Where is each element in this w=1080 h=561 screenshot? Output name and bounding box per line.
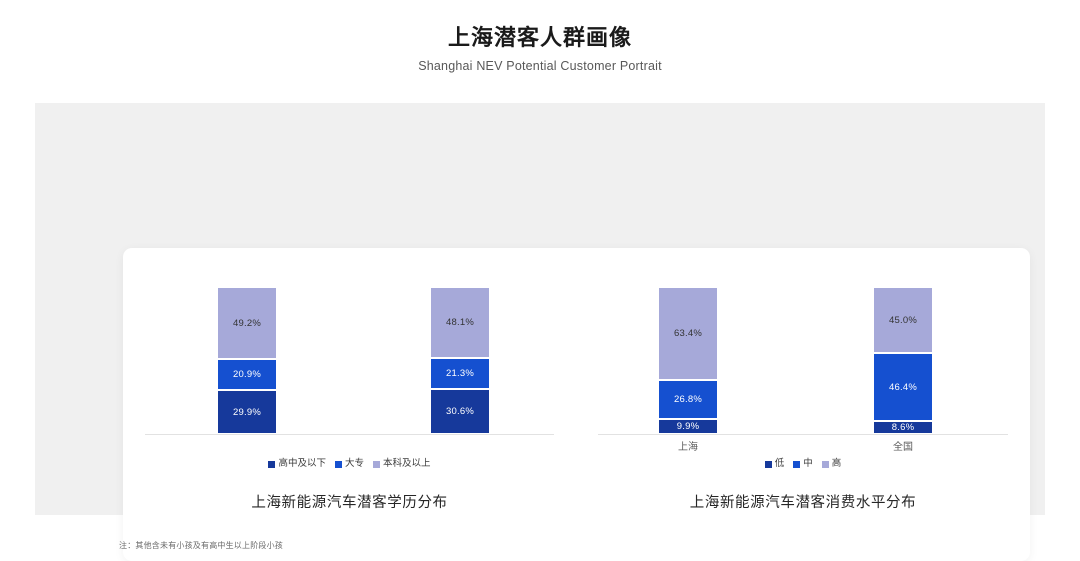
- legend-label: 低: [775, 459, 785, 469]
- bar-segment-low[interactable]: 29.9%: [217, 390, 277, 434]
- content-card: 29.9% 20.9% 49.2% 30.6% 21.3% 48.1% 高中及以…: [123, 248, 1030, 561]
- slide-panel: 29.9% 20.9% 49.2% 30.6% 21.3% 48.1% 高中及以…: [35, 103, 1045, 515]
- bar-consumption-1[interactable]: 8.6% 46.4% 45.0%: [873, 287, 933, 434]
- category-axis-labels: 上海 全国: [576, 438, 1030, 454]
- bar-segment-mid[interactable]: 46.4%: [873, 353, 933, 421]
- bar-consumption-0[interactable]: 9.9% 26.8% 63.4%: [658, 287, 718, 434]
- legend-swatch-icon: [335, 461, 342, 468]
- plot-area-consumption: 9.9% 26.8% 63.4% 8.6% 46.4% 45.0%: [576, 288, 1030, 435]
- legend-education: 高中及以下 大专 本科及以上: [123, 459, 576, 469]
- legend-label: 本科及以上: [383, 459, 431, 469]
- legend-item[interactable]: 高: [822, 459, 842, 469]
- bar-segment-high[interactable]: 45.0%: [873, 287, 933, 353]
- bar-segment-high[interactable]: 48.1%: [430, 287, 490, 358]
- legend-consumption: 低 中 高: [576, 459, 1030, 469]
- page-subtitle: Shanghai NEV Potential Customer Portrait: [0, 58, 1080, 74]
- bar-education-0[interactable]: 29.9% 20.9% 49.2%: [217, 287, 277, 434]
- legend-item[interactable]: 本科及以上: [373, 459, 431, 469]
- page-header: 上海潜客人群画像 Shanghai NEV Potential Customer…: [0, 24, 1080, 74]
- bar-segment-low[interactable]: 9.9%: [658, 419, 718, 434]
- legend-item[interactable]: 大专: [335, 459, 364, 469]
- chart-footnote: 注：其他含未有小孩及有高中生以上阶段小孩: [119, 540, 283, 551]
- plot-area-education: 29.9% 20.9% 49.2% 30.6% 21.3% 48.1%: [123, 288, 576, 435]
- bar-segment-high[interactable]: 63.4%: [658, 287, 718, 380]
- chart-consumption: 9.9% 26.8% 63.4% 8.6% 46.4% 45.0% 上海 全国: [576, 248, 1030, 561]
- charts-row: 29.9% 20.9% 49.2% 30.6% 21.3% 48.1% 高中及以…: [123, 248, 1030, 561]
- legend-swatch-icon: [373, 461, 380, 468]
- legend-swatch-icon: [793, 461, 800, 468]
- bar-segment-high[interactable]: 49.2%: [217, 287, 277, 359]
- axis-baseline: [145, 434, 554, 435]
- category-label-nationwide: 全国: [873, 438, 933, 453]
- bar-education-1[interactable]: 30.6% 21.3% 48.1%: [430, 287, 490, 434]
- page-title: 上海潜客人群画像: [0, 24, 1080, 52]
- legend-label: 高: [832, 459, 842, 469]
- bar-segment-mid[interactable]: 21.3%: [430, 358, 490, 389]
- legend-label: 高中及以下: [278, 459, 326, 469]
- chart-title-education: 上海新能源汽车潜客学历分布: [123, 491, 576, 512]
- bar-segment-mid[interactable]: 20.9%: [217, 359, 277, 390]
- legend-label: 中: [803, 459, 813, 469]
- axis-baseline: [598, 434, 1008, 435]
- legend-swatch-icon: [765, 461, 772, 468]
- legend-item[interactable]: 低: [765, 459, 785, 469]
- chart-title-consumption: 上海新能源汽车潜客消费水平分布: [576, 491, 1030, 512]
- category-label-shanghai: 上海: [658, 438, 718, 453]
- legend-swatch-icon: [822, 461, 829, 468]
- bar-segment-mid[interactable]: 26.8%: [658, 380, 718, 419]
- legend-item[interactable]: 高中及以下: [268, 459, 326, 469]
- legend-label: 大专: [345, 459, 364, 469]
- bar-segment-low[interactable]: 30.6%: [430, 389, 490, 434]
- legend-item[interactable]: 中: [793, 459, 813, 469]
- bar-segment-low[interactable]: 8.6%: [873, 421, 933, 434]
- chart-education: 29.9% 20.9% 49.2% 30.6% 21.3% 48.1% 高中及以…: [123, 248, 576, 561]
- legend-swatch-icon: [268, 461, 275, 468]
